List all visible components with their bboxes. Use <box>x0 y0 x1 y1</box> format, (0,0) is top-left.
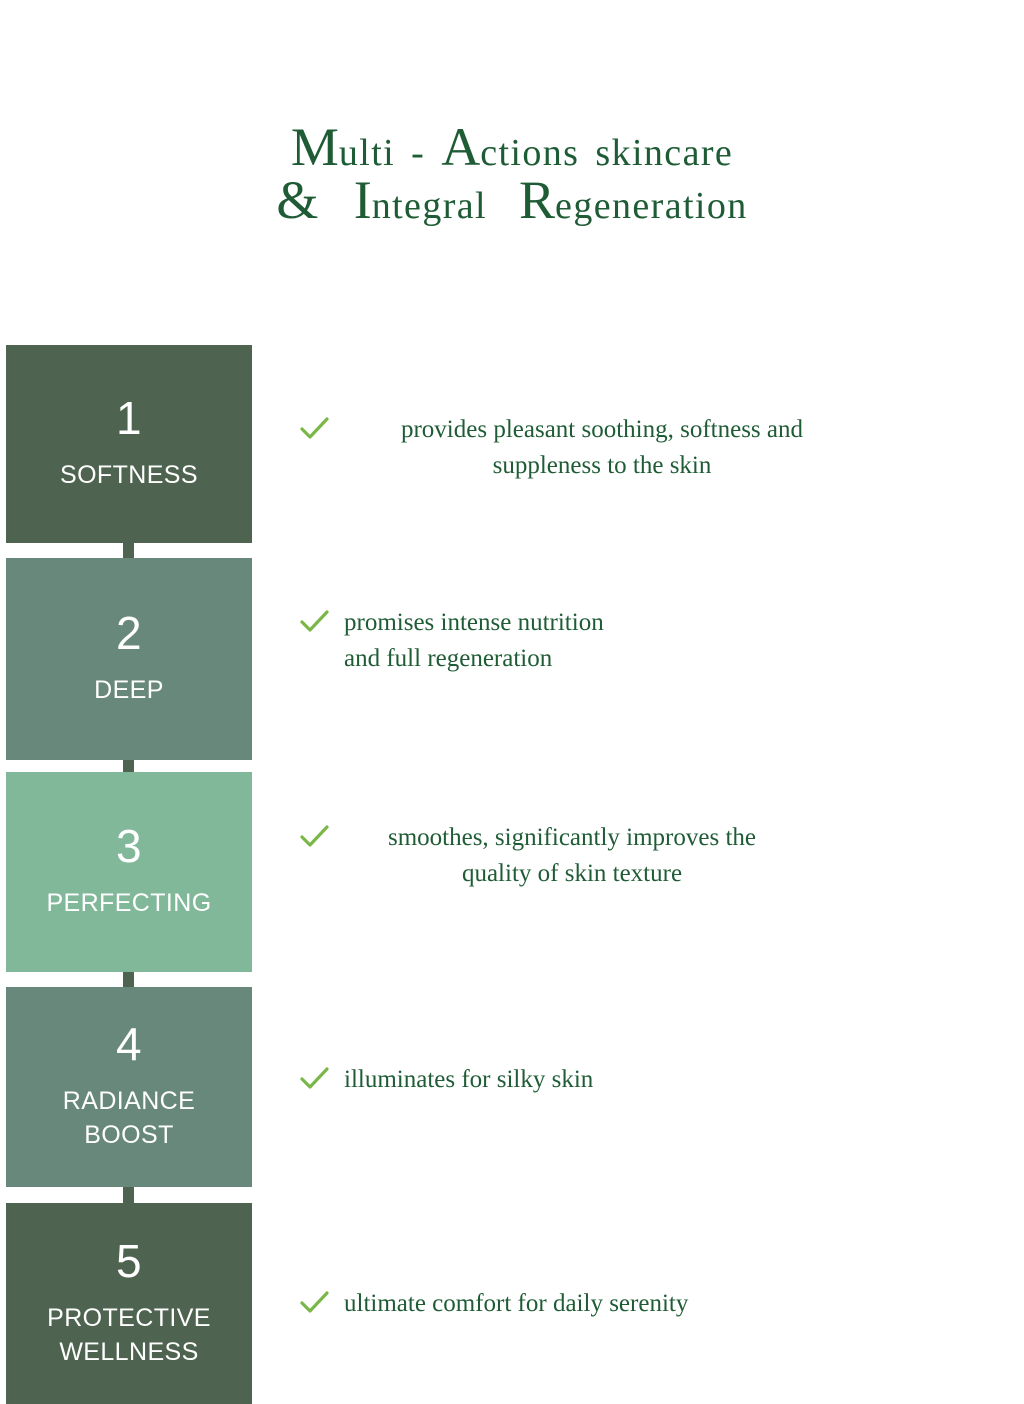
step-block-5[interactable]: 5PROTECTIVE WELLNESS <box>6 1203 252 1404</box>
benefit-list: provides pleasant soothing, softness and… <box>300 0 1024 1404</box>
step-connector-1 <box>123 543 134 558</box>
benefit-text-5: ultimate comfort for daily serenity <box>344 1286 820 1322</box>
step-label-5: PROTECTIVE WELLNESS <box>47 1302 211 1370</box>
benefit-item-3: smoothes, significantly improves the qua… <box>300 820 800 891</box>
check-icon <box>300 824 330 850</box>
benefit-item-1: provides pleasant soothing, softness and… <box>300 412 860 483</box>
step-label-4: RADIANCE BOOST <box>63 1085 195 1153</box>
step-block-2[interactable]: 2DEEP <box>6 558 252 760</box>
check-icon <box>300 1066 330 1092</box>
step-connector-4 <box>123 1187 134 1203</box>
step-block-1[interactable]: 1SOFTNESS <box>6 345 252 543</box>
benefit-text-2: promises intense nutrition and full rege… <box>344 605 860 676</box>
check-icon <box>300 416 330 442</box>
step-number-5: 5 <box>116 1238 142 1284</box>
step-number-2: 2 <box>116 610 142 656</box>
step-number-3: 3 <box>116 823 142 869</box>
benefit-item-4: illuminates for silky skin <box>300 1062 800 1098</box>
step-label-2: DEEP <box>94 674 164 708</box>
step-label-1: SOFTNESS <box>60 459 198 493</box>
step-connector-2 <box>123 760 134 772</box>
step-number-4: 4 <box>116 1021 142 1067</box>
step-column: 1SOFTNESS2DEEP3PERFECTING4RADIANCE BOOST… <box>0 0 252 1404</box>
benefit-item-5: ultimate comfort for daily serenity <box>300 1286 820 1322</box>
step-label-3: PERFECTING <box>46 887 211 921</box>
benefit-item-2: promises intense nutrition and full rege… <box>300 605 860 676</box>
step-connector-3 <box>123 972 134 987</box>
poster-page: Multi-Actionsskincare &IntegralRegenerat… <box>0 0 1024 1404</box>
check-icon <box>300 1290 330 1316</box>
benefit-text-1: provides pleasant soothing, softness and… <box>344 412 860 483</box>
step-number-1: 1 <box>116 395 142 441</box>
step-block-4[interactable]: 4RADIANCE BOOST <box>6 987 252 1187</box>
benefit-text-3: smoothes, significantly improves the qua… <box>344 820 800 891</box>
benefit-text-4: illuminates for silky skin <box>344 1062 800 1098</box>
step-block-3[interactable]: 3PERFECTING <box>6 772 252 972</box>
check-icon <box>300 609 330 635</box>
